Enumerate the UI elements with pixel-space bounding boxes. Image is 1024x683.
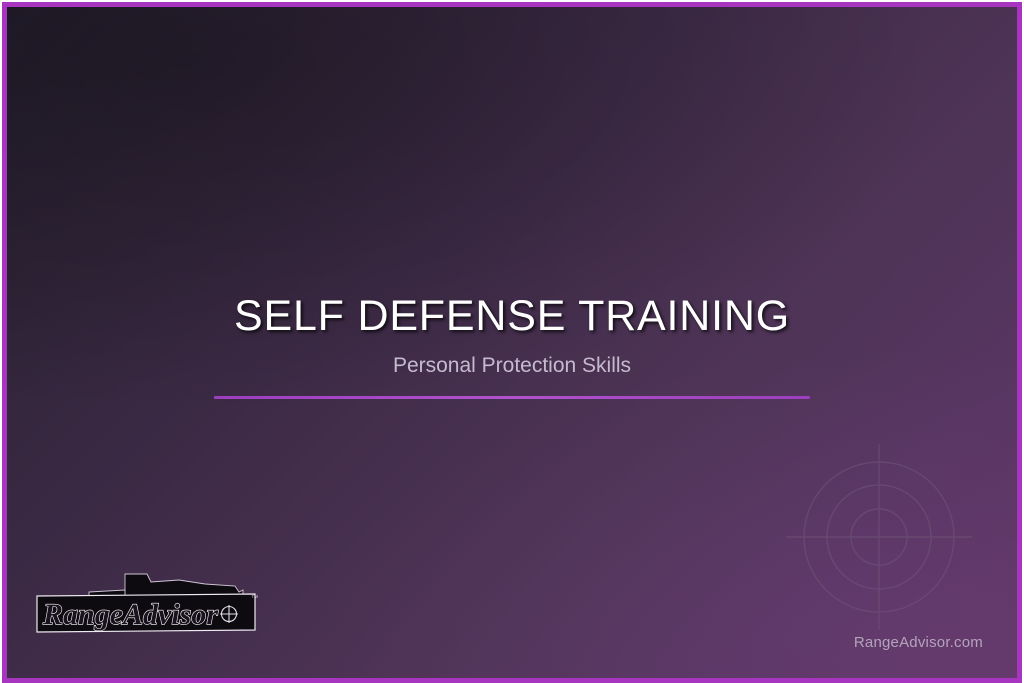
page-title: SELF DEFENSE TRAINING (7, 293, 1017, 339)
crosshair-target-icon (779, 437, 979, 637)
title-block: SELF DEFENSE TRAINING Personal Protectio… (7, 293, 1017, 399)
slide-canvas: SELF DEFENSE TRAINING Personal Protectio… (7, 7, 1017, 678)
slide-purple-frame: SELF DEFENSE TRAINING Personal Protectio… (2, 2, 1022, 683)
title-divider (214, 396, 810, 399)
brand-trademark: ™ (251, 595, 258, 602)
page-subtitle: Personal Protection Skills (7, 353, 1017, 378)
brand-wordmark-text: RangeAdvisor (42, 598, 218, 631)
slide-page: SELF DEFENSE TRAINING Personal Protectio… (0, 0, 1024, 683)
site-url-label: RangeAdvisor.com (854, 634, 983, 651)
brand-logo[interactable]: RangeAdvisor ™ (29, 566, 263, 644)
